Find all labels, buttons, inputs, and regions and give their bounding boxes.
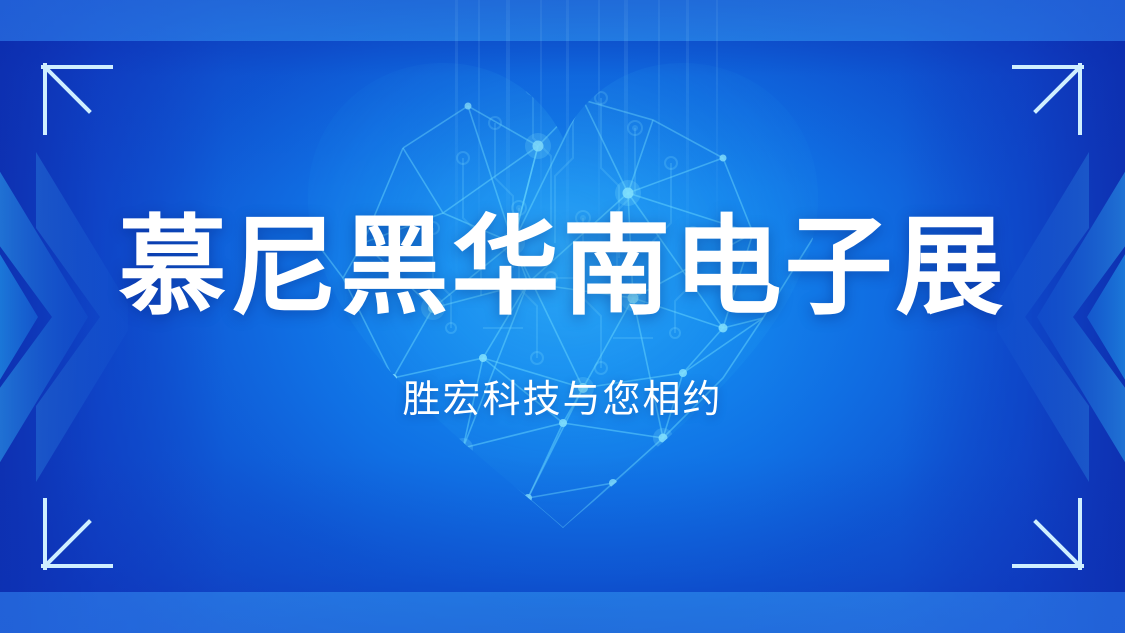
banner-title: 慕尼黑华南电子展 [118, 209, 1006, 326]
promo-banner: 慕尼黑华南电子展 胜宏科技与您相约 [0, 0, 1125, 633]
banner-text-block: 慕尼黑华南电子展 胜宏科技与您相约 [0, 0, 1125, 633]
banner-subtitle: 胜宏科技与您相约 [402, 378, 722, 424]
